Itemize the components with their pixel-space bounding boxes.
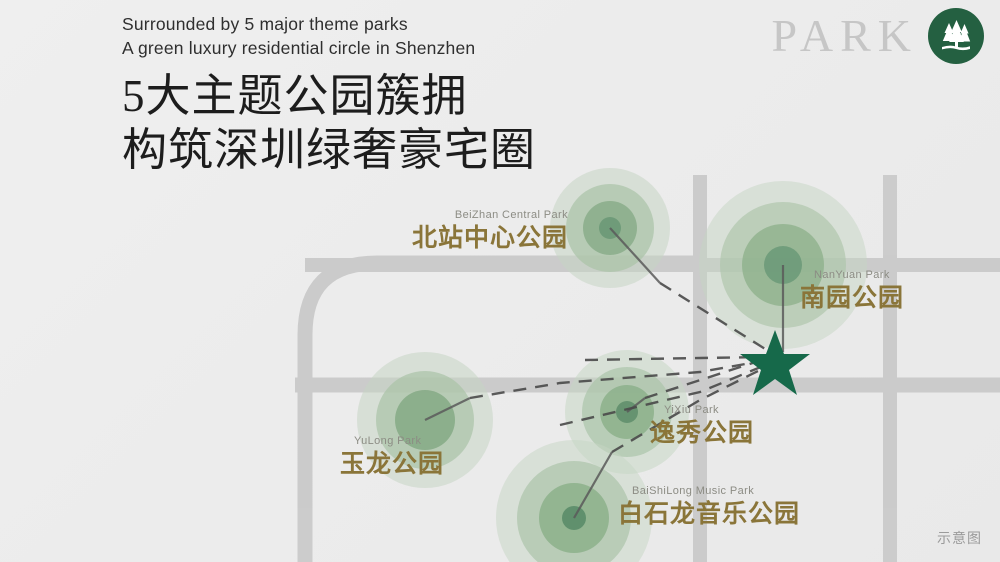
slide-canvas: Surrounded by 5 major theme parks A gree… [0, 0, 1000, 562]
park-label-baishilong-cn: 白石龙音乐公园 [618, 498, 800, 530]
park-label-yulong-cn: 玉龙公园 [340, 448, 444, 480]
park-label-yixiu: YiXiu Park 逸秀公园 [650, 403, 754, 449]
park-label-beizhan: BeiZhan Central Park 北站中心公园 [398, 208, 568, 254]
park-label-beizhan-en: BeiZhan Central Park [398, 208, 568, 222]
park-label-baishilong: BaiShiLong Music Park 白石龙音乐公园 [618, 484, 800, 530]
subtitle-en-line1: Surrounded by 5 major theme parks [122, 12, 536, 36]
logo-wordmark: PARK [772, 11, 918, 61]
subtitle-en-line2: A green luxury residential circle in She… [122, 36, 536, 60]
headline-block: Surrounded by 5 major theme parks A gree… [122, 12, 536, 177]
park-label-beizhan-cn: 北站中心公园 [398, 222, 568, 254]
pine-trees-icon [928, 8, 984, 64]
schematic-note: 示意图 [937, 528, 982, 548]
brand-logo: PARK [772, 8, 984, 64]
park-label-yixiu-en: YiXiu Park [650, 403, 754, 417]
park-label-yulong-en: YuLong Park [340, 434, 444, 448]
park-label-nanyuan: NanYuan Park 南园公园 [800, 268, 904, 314]
headline-line-1: 5大主题公园簇拥 [122, 69, 536, 123]
park-label-baishilong-en: BaiShiLong Music Park [618, 484, 800, 498]
headline-line-2: 构筑深圳绿奢豪宅圈 [122, 123, 536, 177]
park-label-nanyuan-en: NanYuan Park [800, 268, 904, 282]
page-title: 5大主题公园簇拥 构筑深圳绿奢豪宅圈 [122, 69, 536, 177]
park-label-yulong: YuLong Park 玉龙公园 [340, 434, 444, 480]
park-label-yixiu-cn: 逸秀公园 [650, 417, 754, 449]
park-label-nanyuan-cn: 南园公园 [800, 282, 904, 314]
